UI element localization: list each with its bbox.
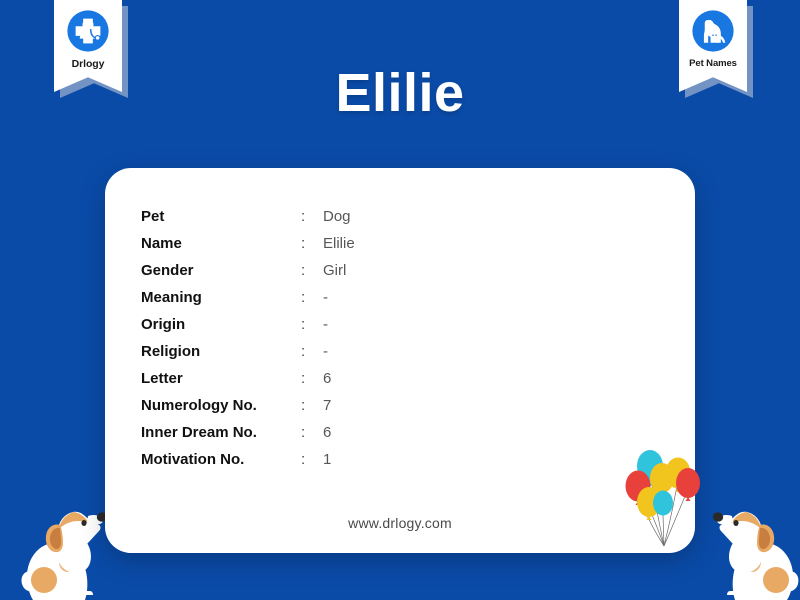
sitting-dog-illustration-mirrored <box>692 492 800 600</box>
pet-name-card-page: Drlogy Pet Names Elilie Pet : <box>0 0 800 600</box>
row-label: Religion <box>141 343 301 360</box>
row-label: Numerology No. <box>141 397 301 414</box>
pet-names-badge[interactable]: Pet Names <box>679 0 747 92</box>
row-separator: : <box>301 235 323 252</box>
table-row: Gender : Girl <box>141 262 355 289</box>
row-value: 7 <box>323 397 331 414</box>
table-row: Letter : 6 <box>141 370 355 397</box>
table-row: Numerology No. : 7 <box>141 397 355 424</box>
row-label: Meaning <box>141 289 301 306</box>
row-separator: : <box>301 316 323 333</box>
row-value: Dog <box>323 208 351 225</box>
drlogy-brand-badge[interactable]: Drlogy <box>54 0 122 92</box>
row-separator: : <box>301 370 323 387</box>
website-url: www.drlogy.com <box>105 515 695 531</box>
dog-and-cat-silhouette-icon <box>691 9 735 53</box>
row-separator: : <box>301 397 323 414</box>
table-row: Motivation No. : 1 <box>141 451 355 478</box>
drlogy-medical-cross-doctor-icon <box>66 9 110 53</box>
row-value: - <box>323 289 328 306</box>
pet-info-table: Pet : Dog Name : Elilie Gender : Girl Me… <box>141 208 355 478</box>
row-separator: : <box>301 451 323 468</box>
row-value: - <box>323 316 328 333</box>
table-row: Religion : - <box>141 343 355 370</box>
table-row: Origin : - <box>141 316 355 343</box>
row-value: 6 <box>323 370 331 387</box>
table-row: Name : Elilie <box>141 235 355 262</box>
drlogy-badge-label: Drlogy <box>72 58 105 70</box>
pet-names-badge-label: Pet Names <box>689 58 737 69</box>
row-label: Motivation No. <box>141 451 301 468</box>
row-label: Name <box>141 235 301 252</box>
row-separator: : <box>301 289 323 306</box>
row-value: 6 <box>323 424 331 441</box>
row-value: 1 <box>323 451 331 468</box>
row-separator: : <box>301 424 323 441</box>
row-separator: : <box>301 208 323 225</box>
row-label: Pet <box>141 208 301 225</box>
row-separator: : <box>301 343 323 360</box>
row-label: Letter <box>141 370 301 387</box>
pet-name-info-card: Pet : Dog Name : Elilie Gender : Girl Me… <box>105 168 695 553</box>
table-row: Pet : Dog <box>141 208 355 235</box>
row-value: Girl <box>323 262 346 279</box>
table-row: Inner Dream No. : 6 <box>141 424 355 451</box>
row-value: - <box>323 343 328 360</box>
row-label: Origin <box>141 316 301 333</box>
row-value: Elilie <box>323 235 355 252</box>
row-label: Gender <box>141 262 301 279</box>
table-row: Meaning : - <box>141 289 355 316</box>
row-separator: : <box>301 262 323 279</box>
row-label: Inner Dream No. <box>141 424 301 441</box>
